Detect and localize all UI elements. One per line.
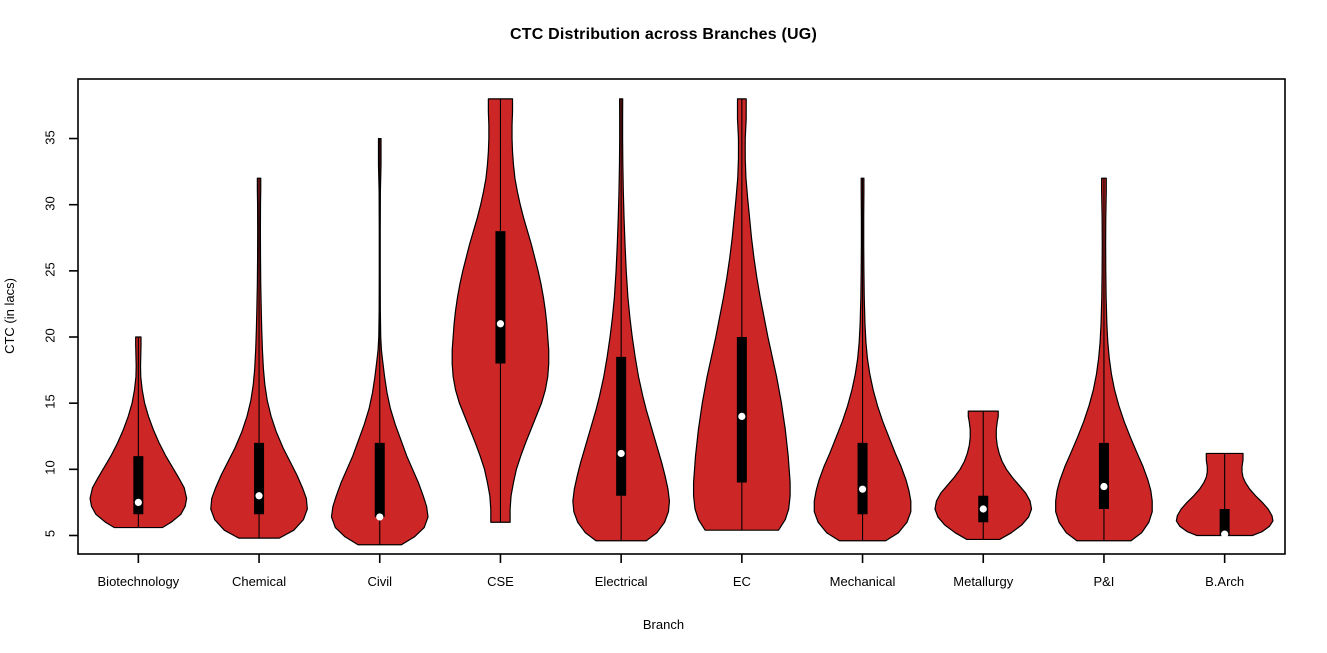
median-marker[interactable] bbox=[738, 413, 745, 420]
x-tick-label: Metallurgy bbox=[953, 574, 1013, 589]
y-tick-label: 10 bbox=[43, 448, 58, 488]
violins-group bbox=[90, 99, 1273, 545]
violin-plot-figure: CTC Distribution across Branches (UG) CT… bbox=[0, 0, 1327, 653]
x-tick-label: B.Arch bbox=[1205, 574, 1244, 589]
median-marker[interactable] bbox=[859, 486, 866, 493]
median-marker[interactable] bbox=[497, 320, 504, 327]
x-tick-label: Mechanical bbox=[830, 574, 896, 589]
x-tick-label: Electrical bbox=[595, 574, 648, 589]
x-tick-label: EC bbox=[733, 574, 751, 589]
median-marker[interactable] bbox=[255, 492, 262, 499]
x-tick-label: Chemical bbox=[232, 574, 286, 589]
y-tick-label: 15 bbox=[43, 382, 58, 422]
median-marker[interactable] bbox=[618, 450, 625, 457]
y-tick-label: 35 bbox=[43, 117, 58, 157]
median-marker[interactable] bbox=[376, 513, 383, 520]
y-tick-label: 25 bbox=[43, 249, 58, 289]
plot-canvas bbox=[0, 0, 1327, 653]
x-tick-label: P&I bbox=[1093, 574, 1114, 589]
y-tick-label: 30 bbox=[43, 183, 58, 223]
median-marker[interactable] bbox=[1100, 483, 1107, 490]
x-tick-label: CSE bbox=[487, 574, 514, 589]
median-marker[interactable] bbox=[1221, 531, 1228, 538]
x-tick-label: Biotechnology bbox=[98, 574, 180, 589]
median-marker[interactable] bbox=[980, 505, 987, 512]
median-marker[interactable] bbox=[135, 499, 142, 506]
y-tick-label: 5 bbox=[43, 514, 58, 554]
x-tick-label: Civil bbox=[367, 574, 392, 589]
y-tick-label: 20 bbox=[43, 316, 58, 356]
